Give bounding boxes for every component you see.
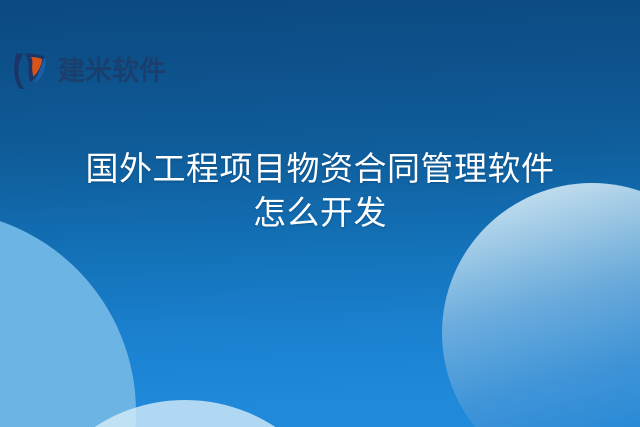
headline-title: 国外工程项目物资合同管理软件 怎么开发 — [0, 148, 640, 236]
decorative-circle-left — [0, 210, 136, 427]
decorative-circle-bottom — [20, 400, 350, 427]
logo-wordmark: 建米软件 — [58, 58, 166, 85]
logo-mark-icon — [13, 51, 51, 91]
brand-logo[interactable]: 建米软件 — [13, 51, 166, 91]
promo-banner: 建米软件 国外工程项目物资合同管理软件 怎么开发 — [0, 0, 640, 427]
